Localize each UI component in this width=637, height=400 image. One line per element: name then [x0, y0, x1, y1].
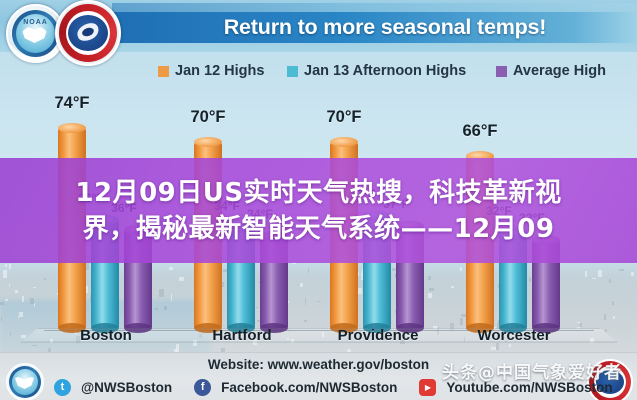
bar-cap [194, 137, 222, 147]
footer-website[interactable]: Website: www.weather.gov/boston [0, 357, 637, 372]
legend-swatch-jan12 [158, 66, 169, 77]
legend-item-0: Jan 12 Highs [158, 58, 264, 84]
legend-swatch-average [496, 66, 507, 77]
twitter-glyph: t [54, 379, 71, 396]
page-title: Return to more seasonal temps! [150, 13, 620, 41]
legend-label-jan13: Jan 13 Afternoon Highs [304, 63, 466, 79]
value-label-worcester-jan12: 66°F [445, 122, 515, 141]
youtube-glyph: ▶ [419, 379, 436, 396]
city-detail [496, 343, 499, 350]
category-label-boston: Boston [42, 327, 170, 344]
legend-item-2: Average High [496, 58, 606, 84]
header-accent-stripe [112, 3, 637, 12]
footer-bar: Website: www.weather.gov/boston t @NWSBo… [0, 352, 637, 400]
twitter-handle[interactable]: @NWSBoston [81, 380, 172, 395]
chinese-caption-text: 12月09日US实时天气热搜，科技革新视 界，揭秘最新智能天气系统——12月09 [0, 162, 637, 260]
legend-label-average: Average High [513, 63, 606, 79]
value-label-hartford-jan12: 70°F [173, 108, 243, 127]
bar-cap [330, 137, 358, 147]
value-label-boston-jan12: 74°F [37, 94, 107, 113]
legend-swatch-jan13 [287, 66, 298, 77]
value-label-providence-jan12: 70°F [309, 108, 379, 127]
facebook-glyph: f [194, 379, 211, 396]
youtube-icon[interactable]: ▶ [419, 379, 436, 396]
category-label-hartford: Hartford [178, 327, 306, 344]
chart-legend: Jan 12 Highs Jan 13 Afternoon Highs Aver… [0, 58, 637, 84]
footer-social-links: t @NWSBoston f Facebook.com/NWSBoston ▶ … [54, 376, 584, 398]
noaa-logo-text: NOAA [8, 19, 63, 26]
chinese-caption-line-1: 12月09日US实时天气热搜，科技革新视 [75, 175, 561, 211]
city-detail [32, 345, 37, 347]
chinese-caption-line-2: 界，揭秘最新智能天气系统——12月09 [83, 211, 555, 247]
legend-label-jan12: Jan 12 Highs [175, 63, 264, 79]
city-detail [509, 344, 511, 347]
weather-graphic: Return to more seasonal temps! NOAA Jan … [0, 0, 637, 400]
legend-item-1: Jan 13 Afternoon Highs [287, 58, 466, 84]
nws-logo [55, 0, 121, 66]
bar-cap [58, 123, 86, 133]
city-detail [491, 347, 496, 350]
twitter-icon[interactable]: t [54, 379, 71, 396]
facebook-link[interactable]: Facebook.com/NWSBoston [221, 380, 397, 395]
facebook-icon[interactable]: f [194, 379, 211, 396]
category-label-providence: Providence [314, 327, 442, 344]
youtube-link[interactable]: Youtube.com/NWSBoston [446, 380, 612, 395]
category-label-worcester: Worcester [450, 327, 578, 344]
